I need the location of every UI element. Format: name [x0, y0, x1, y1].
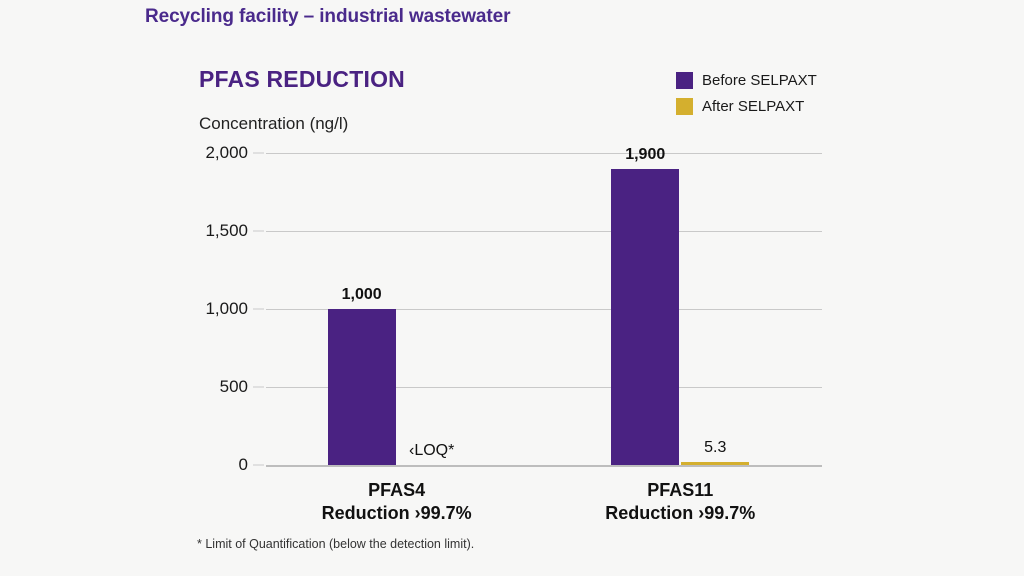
bar-pfas11-after[interactable] — [681, 462, 749, 465]
category-label-0: PFAS4 — [322, 479, 472, 502]
slide-title: Recycling facility – industrial wastewat… — [145, 6, 510, 28]
y-tick-mark-0 — [253, 465, 264, 466]
y-tick-label-0: 0 — [188, 455, 248, 475]
category-sublabel-1: Reduction ›99.7% — [605, 502, 755, 525]
chart-plot-area: 05001,0001,5002,0001,0001,900‹LOQ*5.3 — [266, 153, 822, 465]
bar-pfas4-before[interactable] — [328, 309, 396, 465]
legend-swatch-before — [676, 72, 693, 89]
slide-canvas: Recycling facility – industrial wastewat… — [0, 0, 1024, 576]
y-tick-label-500: 500 — [188, 377, 248, 397]
gridline-0 — [266, 465, 822, 467]
bar-pfas11-before[interactable] — [611, 169, 679, 465]
gridline-1500 — [266, 231, 822, 232]
chart-footnote: * Limit of Quantification (below the det… — [197, 537, 474, 551]
y-axis-title: Concentration (ng/l) — [199, 114, 348, 134]
legend-item-after[interactable]: After SELPAXT — [676, 96, 817, 117]
category-label-1: PFAS11 — [605, 479, 755, 502]
chart-legend: Before SELPAXT After SELPAXT — [676, 70, 817, 122]
category-sublabel-0: Reduction ›99.7% — [322, 502, 472, 525]
y-tick-mark-2000 — [253, 153, 264, 154]
bar-label-pfas4-before: 1,000 — [342, 286, 382, 304]
y-tick-mark-500 — [253, 387, 264, 388]
bar-label-pfas11-before: 1,900 — [625, 146, 665, 164]
chart-title: PFAS REDUCTION — [199, 66, 405, 93]
legend-label-before: Before SELPAXT — [702, 72, 817, 89]
bar-label-pfas11-after: 5.3 — [704, 439, 726, 457]
gridline-2000 — [266, 153, 822, 154]
legend-swatch-after — [676, 98, 693, 115]
y-tick-label-1500: 1,500 — [188, 221, 248, 241]
y-tick-mark-1500 — [253, 231, 264, 232]
legend-label-after: After SELPAXT — [702, 98, 804, 115]
y-tick-mark-1000 — [253, 309, 264, 310]
x-axis-category-pfas4: PFAS4 Reduction ›99.7% — [322, 479, 472, 524]
bar-label-pfas4-after: ‹LOQ* — [409, 442, 454, 460]
y-tick-label-1000: 1,000 — [188, 299, 248, 319]
legend-item-before[interactable]: Before SELPAXT — [676, 70, 817, 91]
y-tick-label-2000: 2,000 — [188, 143, 248, 163]
x-axis-category-pfas11: PFAS11 Reduction ›99.7% — [605, 479, 755, 524]
